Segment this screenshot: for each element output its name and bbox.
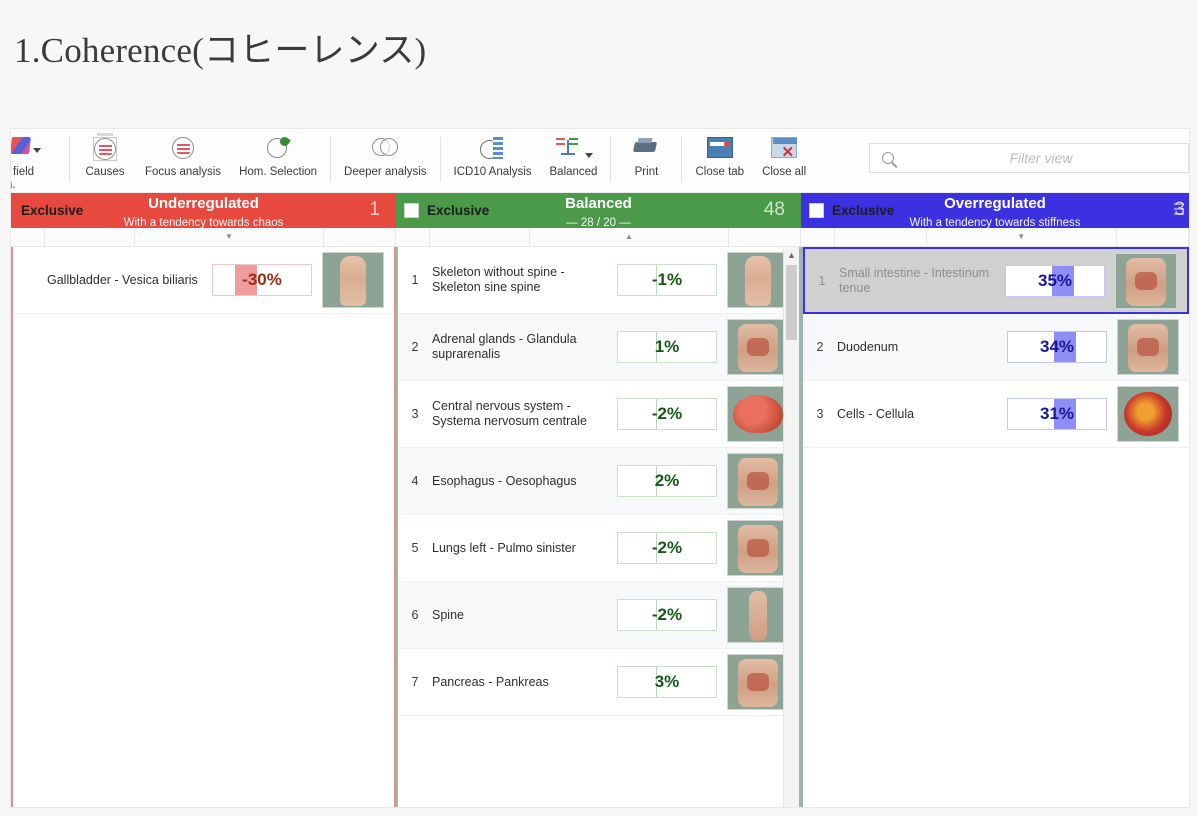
row-value-text: -30% (242, 270, 282, 290)
row-organ-name: Adrenal glands - Glandula suprarenalis (432, 332, 617, 362)
close-tab-icon (695, 137, 744, 163)
row-organ-name: Spine (432, 608, 617, 623)
toolbar-button-hom-selection[interactable]: Hom. Selection (230, 129, 326, 179)
row-value-gauge[interactable]: 3% (617, 666, 717, 698)
row-value-text: -2% (652, 538, 682, 558)
subheader-value-cell[interactable]: ▼ (135, 228, 324, 246)
row-value-gauge[interactable]: -2% (617, 398, 717, 430)
subheader-name-cell[interactable] (430, 228, 530, 246)
table-row[interactable]: 3Central nervous system - Systema nervos… (398, 381, 799, 448)
toolbar-separator (440, 137, 441, 182)
sort-descending-icon: ▼ (225, 232, 233, 242)
exclusive-checkbox-balanced[interactable] (404, 203, 419, 218)
abdomen-figure[interactable] (727, 654, 789, 710)
column-resize-grip[interactable] (1174, 203, 1184, 217)
row-index: 5 (398, 541, 432, 555)
balanced-icon (550, 137, 598, 163)
row-organ-name: Gallbladder - Vesica biliaris (47, 273, 212, 288)
table-row[interactable]: 1Skeleton without spine - Skeleton sine … (398, 247, 799, 314)
subheader-value-cell[interactable]: ▼ (927, 228, 1118, 246)
toolbar-button-causes[interactable]: Causes (74, 129, 136, 179)
row-value-gauge[interactable]: 31% (1007, 398, 1107, 430)
row-index: 3 (803, 407, 837, 421)
toolbar-button-label: Close tab (695, 166, 744, 179)
row-value-gauge[interactable]: 1% (617, 331, 717, 363)
column-body-underregulated: Gallbladder - Vesica biliaris-30% (11, 247, 396, 807)
anatomy-thumbnail-image (738, 324, 778, 372)
row-index: 7 (398, 675, 432, 689)
focus-analysis-icon (145, 137, 221, 163)
table-row[interactable]: 1Small intestine - Intestinum tenue35% (803, 247, 1189, 314)
column-header-balanced: ExclusiveBalanced— 28 / 20 —48 (396, 193, 801, 228)
anatomy-thumbnail-image (738, 525, 778, 573)
row-value-text: -1% (652, 270, 682, 290)
deeper-analysis-icon (344, 137, 426, 163)
toolbar-separator (69, 137, 70, 182)
row-value-text: 31% (1040, 404, 1074, 424)
toolbar-button-close-tab[interactable]: Close tab (686, 129, 753, 179)
row-index: 2 (398, 340, 432, 354)
toolbar-button-label: Balanced (550, 166, 598, 179)
toolbar-button-label: Hom. Selection (239, 166, 317, 179)
table-row[interactable]: 7Pancreas - Pankreas3% (398, 649, 799, 716)
row-value-gauge[interactable]: 2% (617, 465, 717, 497)
column-body-balanced: 1Skeleton without spine - Skeleton sine … (396, 247, 801, 807)
table-row[interactable]: 2Adrenal glands - Glandula suprarenalis1… (398, 314, 799, 381)
table-row[interactable]: 4Esophagus - Oesophagus2% (398, 448, 799, 515)
anatomy-thumbnail-image (738, 458, 778, 506)
table-row[interactable]: 3Cells - Cellula31% (803, 381, 1189, 448)
anatomy-thumbnail-image (1128, 324, 1168, 372)
application-panel: an fieldtim.CausesFocus analysisHom. Sel… (10, 128, 1190, 808)
close-all-icon (762, 137, 806, 163)
anatomy-thumbnail-image (733, 395, 783, 433)
toolbar-button-label: an field (10, 166, 56, 179)
exclusive-label: Exclusive (832, 203, 894, 218)
search-icon (882, 152, 894, 164)
exclusive-label: Exclusive (427, 203, 489, 218)
row-organ-name: Central nervous system - Systema nervosu… (432, 399, 617, 429)
body-front-figure[interactable] (322, 252, 384, 308)
print-icon (624, 137, 668, 163)
column-title: Balanced (565, 195, 632, 212)
table-row[interactable]: 6Spine-2% (398, 582, 799, 649)
row-value-text: 34% (1040, 337, 1074, 357)
anatomy-thumbnail-image (749, 591, 767, 641)
toolbar-button-sublabel: tim. (10, 179, 56, 192)
toolbar-button-deeper-analysis[interactable]: Deeper analysis (335, 129, 435, 179)
row-value-text: -2% (652, 605, 682, 625)
column-subheader-underregulated: ▼ (11, 228, 396, 247)
toolbar-button-label: Deeper analysis (344, 166, 426, 179)
filter-view-search[interactable] (869, 143, 1189, 173)
scroll-up-icon[interactable]: ▲ (784, 247, 799, 263)
column-title: Overregulated (944, 195, 1046, 212)
anatomy-thumbnail-image (1126, 258, 1166, 306)
brain-figure[interactable] (727, 386, 789, 442)
row-organ-name: Small intestine - Intestinum tenue (839, 266, 1005, 296)
subheader-index-cell[interactable] (801, 228, 835, 246)
subheader-name-cell[interactable] (835, 228, 927, 246)
small-intestine-figure[interactable] (1115, 253, 1177, 309)
column-balanced: ExclusiveBalanced— 28 / 20 —48▲1Skeleton… (396, 193, 801, 807)
duodenum-figure[interactable] (1117, 319, 1179, 375)
results-columns: ExclusiveUnderregulatedWith a tendency t… (11, 193, 1189, 807)
chest-figure[interactable] (727, 453, 789, 509)
human-field-estim-icon (11, 137, 56, 163)
row-value-text: 2% (655, 471, 680, 491)
row-value-gauge[interactable]: -30% (212, 264, 312, 296)
icd10-analysis-icon (454, 137, 532, 163)
anatomy-thumbnail-image (738, 659, 778, 707)
row-value-gauge[interactable]: -2% (617, 599, 717, 631)
anatomy-thumbnail-image (1124, 392, 1172, 436)
row-list-overregulated[interactable]: 1Small intestine - Intestinum tenue35%2D… (803, 247, 1189, 807)
toolbar-button-close-all[interactable]: Close all (753, 129, 815, 179)
toolbar-button-label: Focus analysis (145, 166, 221, 179)
row-value-text: 1% (655, 337, 680, 357)
toolbar-button-print[interactable]: Print (615, 129, 677, 179)
column-underregulated: ExclusiveUnderregulatedWith a tendency t… (11, 193, 396, 807)
subheader-value-cell[interactable]: ▲ (530, 228, 729, 246)
subheader-thumb-cell[interactable] (1117, 228, 1189, 246)
search-input[interactable] (894, 145, 1188, 171)
row-list-underregulated[interactable]: Gallbladder - Vesica biliaris-30% (13, 247, 394, 807)
column-count: 48 (764, 199, 785, 221)
row-value-text: -2% (652, 404, 682, 424)
column-subheader-balanced: ▲ (396, 228, 801, 247)
cell-figure[interactable] (1117, 386, 1179, 442)
sort-ascending-icon: ▲ (625, 232, 633, 242)
subheader-thumb-cell[interactable] (729, 228, 801, 246)
anatomy-thumbnail-image (745, 256, 771, 306)
subheader-index-cell[interactable] (396, 228, 430, 246)
subheader-index-cell[interactable] (11, 228, 45, 246)
row-list-balanced[interactable]: 1Skeleton without spine - Skeleton sine … (398, 247, 799, 807)
row-index: 2 (803, 340, 837, 354)
toolbar-separator (681, 137, 682, 182)
toolbar-button-balanced[interactable]: Balanced (541, 129, 607, 179)
row-organ-name: Lungs left - Pulmo sinister (432, 541, 617, 556)
toolbar-button-icd10-analysis[interactable]: ICD10 Analysis (445, 129, 541, 179)
row-index: 1 (398, 273, 432, 287)
column-overregulated: ExclusiveOverregulatedWith a tendency to… (801, 193, 1189, 807)
chevron-down-icon[interactable] (33, 148, 41, 153)
row-value-gauge[interactable]: -1% (617, 264, 717, 296)
chevron-down-icon[interactable] (585, 153, 593, 158)
row-value-text: 35% (1038, 271, 1072, 291)
column-count: 1 (369, 199, 380, 221)
skeleton-figure[interactable] (727, 252, 789, 308)
table-row[interactable]: 2Duodenum34% (803, 314, 1189, 381)
causes-icon (83, 137, 127, 163)
scrollbar-thumb[interactable] (786, 265, 797, 340)
anatomy-thumbnail-image (340, 256, 366, 306)
toolbar-button-focus-analysis[interactable]: Focus analysis (136, 129, 230, 179)
row-organ-name: Pancreas - Pankreas (432, 675, 617, 690)
page-title: 1.Coherence(コヒーレンス) (0, 0, 1198, 73)
column-header-underregulated: ExclusiveUnderregulatedWith a tendency t… (11, 193, 396, 228)
toolbar-button-label: Print (624, 166, 668, 179)
lungs-figure[interactable] (727, 520, 789, 576)
row-value-gauge[interactable]: 34% (1007, 331, 1107, 363)
exclusive-checkbox-overregulated[interactable] (809, 203, 824, 218)
column-title: Underregulated (148, 195, 259, 212)
subheader-name-cell[interactable] (45, 228, 135, 246)
row-index: 4 (398, 474, 432, 488)
hom-selection-icon (239, 137, 317, 163)
spine-side-figure[interactable] (727, 587, 789, 643)
toolbar-button-human-field-estim[interactable]: an fieldtim. (10, 129, 65, 192)
toolbar-button-label: Close all (762, 166, 806, 179)
subheader-thumb-cell[interactable] (324, 228, 396, 246)
row-index: 1 (805, 274, 839, 288)
toolbar: an fieldtim.CausesFocus analysisHom. Sel… (11, 129, 1189, 193)
sort-descending-icon: ▼ (1017, 232, 1025, 242)
column-subheader-overregulated: ▼ (801, 228, 1189, 247)
row-index: 6 (398, 608, 432, 622)
toolbar-separator (330, 137, 331, 182)
row-organ-name: Duodenum (837, 340, 1007, 355)
column-header-overregulated: ExclusiveOverregulatedWith a tendency to… (801, 193, 1189, 228)
row-organ-name: Cells - Cellula (837, 407, 1007, 422)
column-body-overregulated: 1Small intestine - Intestinum tenue35%2D… (801, 247, 1189, 807)
table-row[interactable]: Gallbladder - Vesica biliaris-30% (13, 247, 394, 314)
row-value-gauge[interactable]: 35% (1005, 265, 1105, 297)
toolbar-button-label: Causes (83, 166, 127, 179)
vertical-scrollbar[interactable]: ▲ (783, 247, 799, 807)
row-value-gauge[interactable]: -2% (617, 532, 717, 564)
toolbar-button-label: ICD10 Analysis (454, 166, 532, 179)
row-value-text: 3% (655, 672, 680, 692)
pelvis-figure[interactable] (727, 319, 789, 375)
toolbar-separator (610, 137, 611, 182)
row-index: 3 (398, 407, 432, 421)
table-row[interactable]: 5Lungs left - Pulmo sinister-2% (398, 515, 799, 582)
row-organ-name: Skeleton without spine - Skeleton sine s… (432, 265, 617, 295)
row-organ-name: Esophagus - Oesophagus (432, 474, 617, 489)
exclusive-label: Exclusive (21, 203, 83, 218)
